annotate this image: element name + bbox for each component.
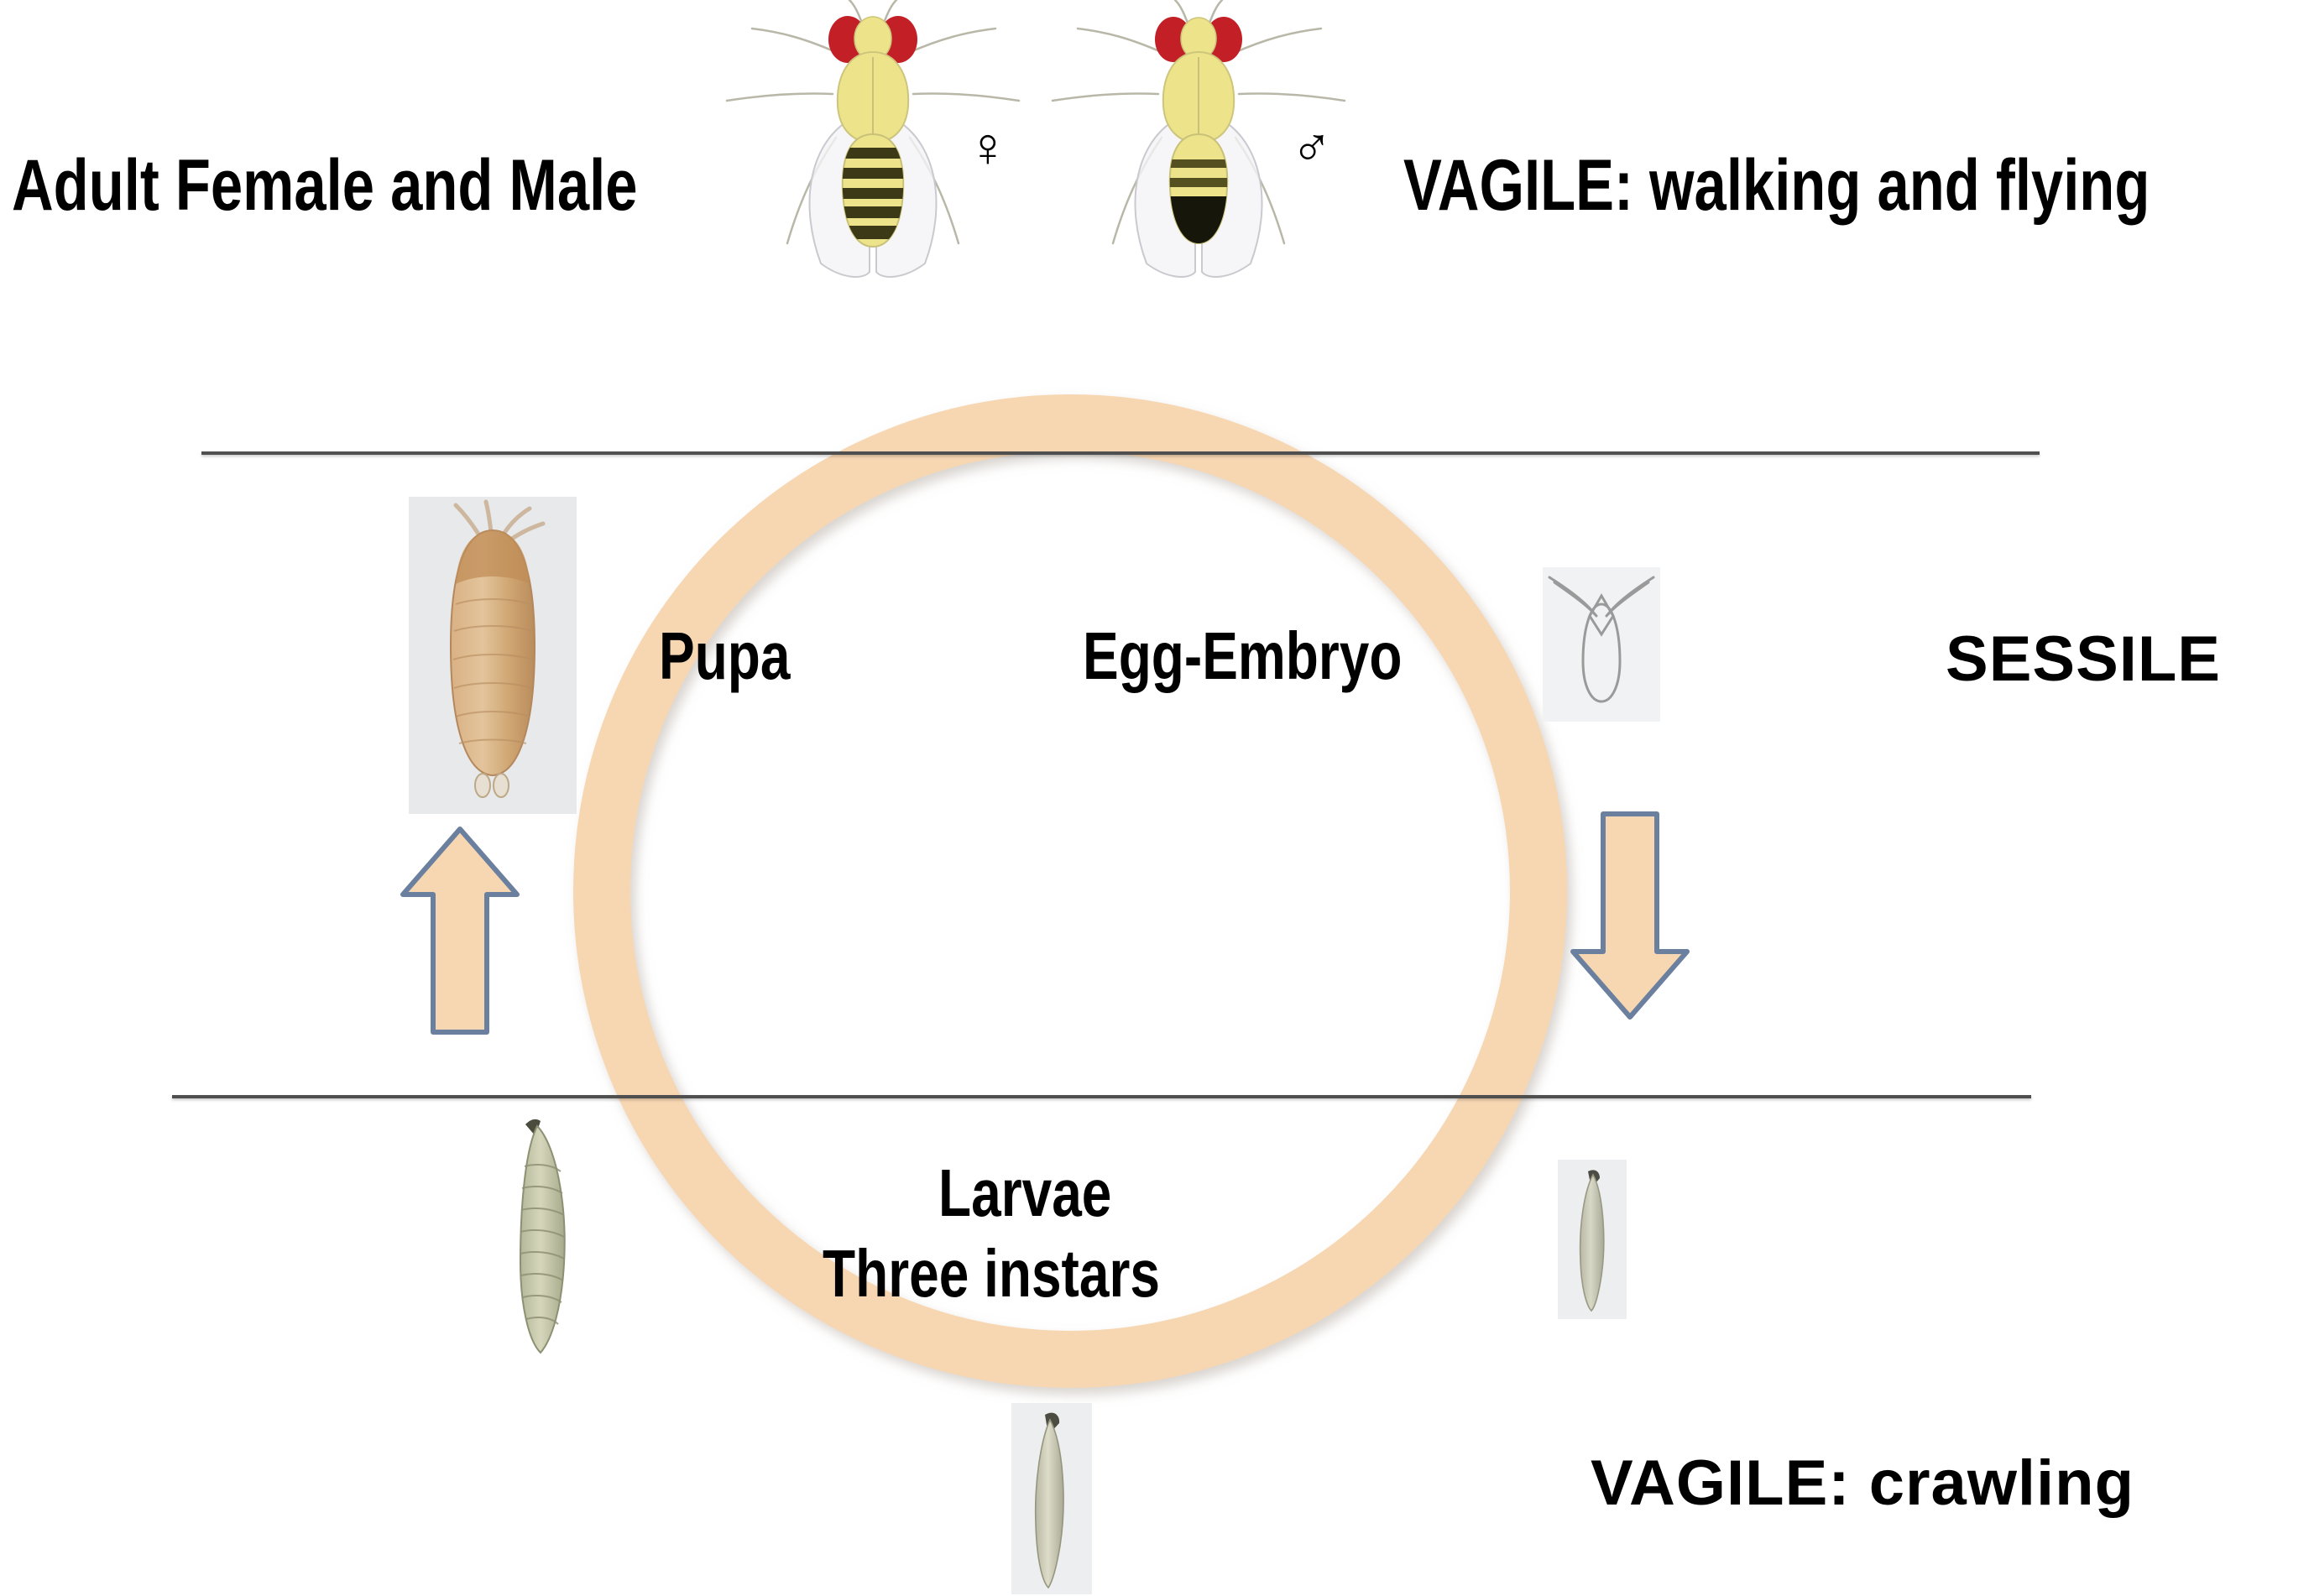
life-cycle-diagram: ♀: [0, 0, 2309, 1596]
arrow-up-icon: [393, 822, 527, 1041]
adult-stage-label: Adult Female and Male: [12, 149, 637, 222]
divider-line-lower: [172, 1095, 2031, 1098]
larvae-stage-label: Larvae: [938, 1160, 1111, 1227]
larva-first-instar-drawing: [1558, 1160, 1627, 1319]
pupa-drawing: [409, 497, 577, 814]
arrow-down-icon: [1563, 806, 1697, 1024]
sessile-label: SESSILE: [1946, 628, 2221, 691]
larva-second-instar-drawing: [1011, 1403, 1092, 1594]
pupa-stage-label: Pupa: [659, 623, 790, 690]
vagile-adult-label: VAGILE: walking and flying: [1403, 149, 2150, 222]
vagile-larva-label: VAGILE: crawling: [1591, 1452, 2134, 1515]
larvae-instars-label: Three instars: [823, 1240, 1160, 1307]
larva-body: [1580, 1175, 1604, 1311]
pupa-image: [409, 497, 577, 814]
larva-second-instar-image: [1011, 1403, 1092, 1594]
egg-drawing: [1543, 567, 1660, 722]
male-symbol-icon: ♂: [1291, 119, 1333, 175]
egg-embryo-image: [1543, 567, 1660, 722]
egg-stage-label: Egg-Embryo: [1083, 623, 1402, 690]
larva-third-instar-drawing: [504, 1116, 613, 1359]
female-symbol-icon: ♀: [967, 119, 1009, 175]
larva-body: [1036, 1420, 1063, 1588]
larva-third-instar-image: [504, 1116, 613, 1359]
larva-first-instar-image: [1558, 1160, 1627, 1319]
divider-line-upper: [201, 451, 2040, 455]
